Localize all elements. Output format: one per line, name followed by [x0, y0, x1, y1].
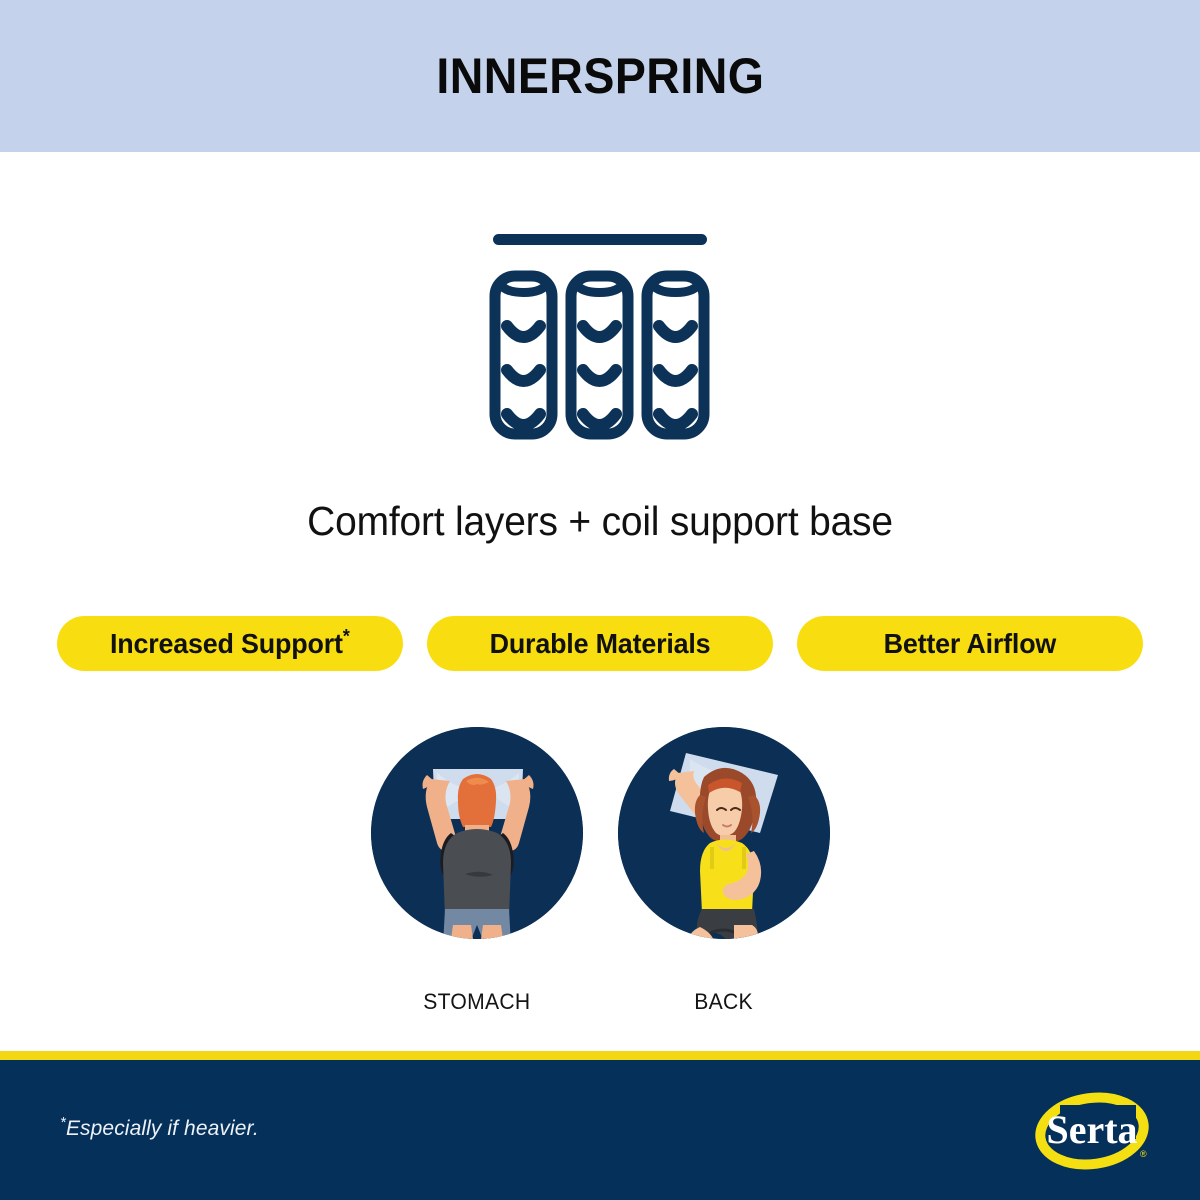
sleep-position-row: STOMACH	[0, 727, 1200, 1015]
coil-top-bar	[493, 234, 707, 245]
sleep-position-caption: STOMACH	[423, 989, 530, 1015]
footer-accent-stripe	[0, 1051, 1200, 1060]
benefit-pill-durable-materials[interactable]: Durable Materials	[427, 616, 773, 671]
coil-cylinder-3	[647, 276, 704, 435]
serta-wordmark: Serta	[1046, 1107, 1137, 1152]
infographic-page: INNERSPRING	[0, 0, 1200, 1200]
back-sleeper-illustration	[618, 727, 830, 939]
benefit-pill-label: Durable Materials	[490, 628, 711, 660]
benefit-pill-row: Increased Support* Durable Materials Bet…	[57, 616, 1143, 671]
sleep-position-back[interactable]: BACK	[618, 727, 830, 1015]
benefit-pill-better-airflow[interactable]: Better Airflow	[797, 616, 1143, 671]
serta-logo[interactable]: Serta ®	[1032, 1085, 1156, 1177]
benefit-pill-label: Increased Support*	[110, 628, 350, 660]
footnote-text: *Especially if heavier.	[60, 1117, 259, 1141]
sleep-position-stomach[interactable]: STOMACH	[371, 727, 583, 1015]
header-band: INNERSPRING	[0, 0, 1200, 152]
coil-icon-container	[0, 228, 1200, 453]
registered-trademark-icon: ®	[1140, 1149, 1147, 1159]
page-title: INNERSPRING	[436, 51, 764, 101]
coil-cylinder-2	[571, 276, 628, 435]
stomach-sleeper-illustration	[371, 727, 583, 939]
footnote-marker: *	[343, 626, 350, 647]
benefit-pill-increased-support[interactable]: Increased Support*	[57, 616, 403, 671]
sleep-position-caption: BACK	[694, 989, 753, 1015]
benefit-pill-label: Better Airflow	[884, 628, 1057, 660]
hero-subtitle: Comfort layers + coil support base	[30, 498, 1170, 545]
stomach-sleeper-circle	[371, 727, 583, 939]
coil-cylinder-1	[495, 276, 552, 435]
back-sleeper-circle	[618, 727, 830, 939]
coil-stack-icon	[485, 228, 715, 453]
